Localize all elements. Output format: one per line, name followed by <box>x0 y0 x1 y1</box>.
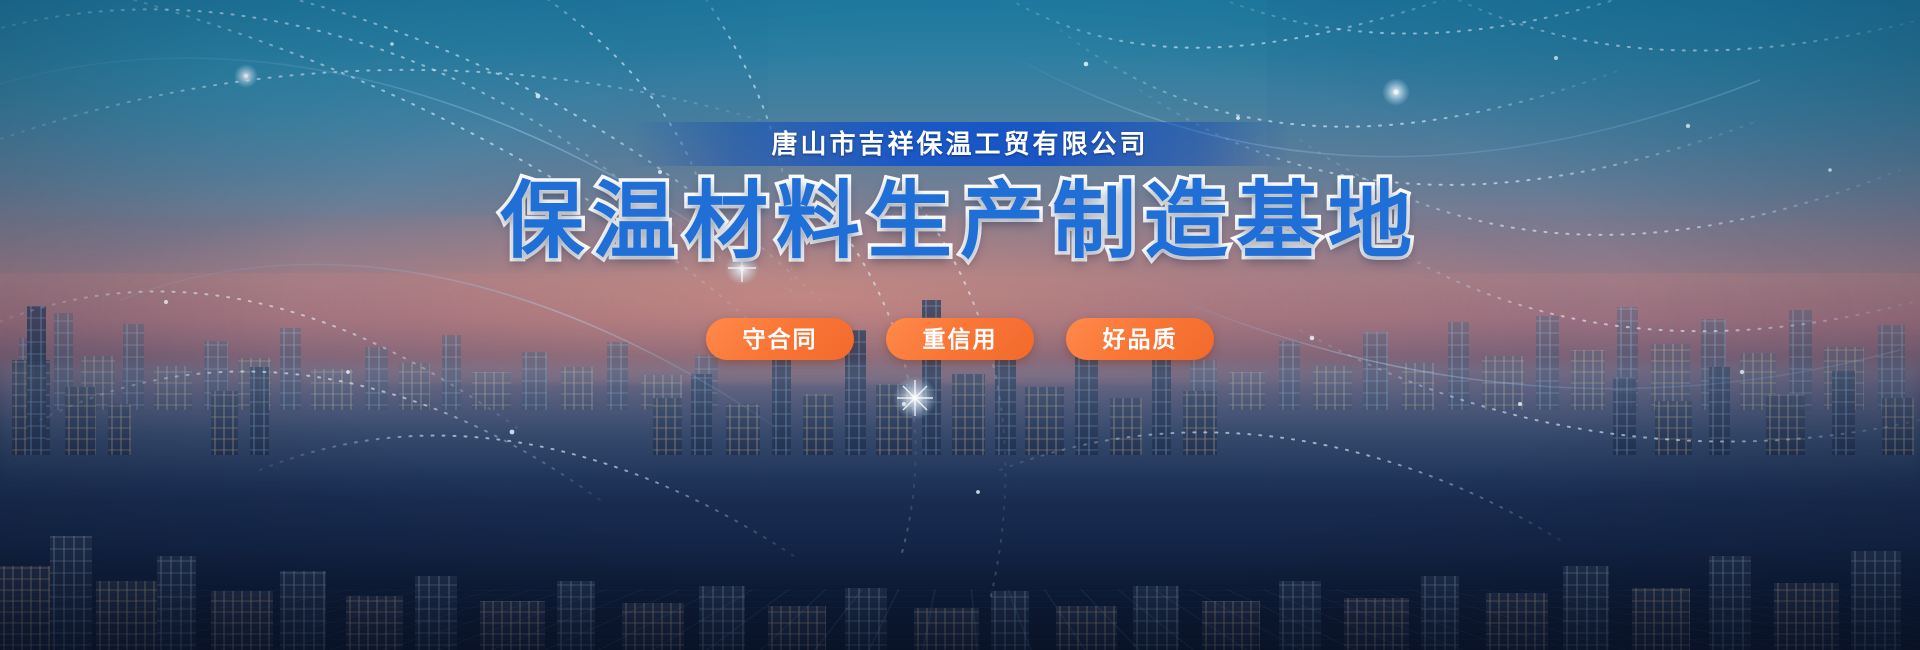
company-name-bar: 唐山市吉祥保温工贸有限公司 <box>630 122 1290 166</box>
badge-shou-he-tong[interactable]: 守合同 <box>706 318 854 360</box>
hero-banner: 唐山市吉祥保温工贸有限公司 保温材料生产制造基地 守合同 重信用 好品质 <box>0 0 1920 650</box>
badge-label: 重信用 <box>923 328 998 351</box>
badge-row: 守合同 重信用 好品质 <box>706 318 1214 360</box>
badge-label: 好品质 <box>1103 328 1178 351</box>
badge-zhong-xin-yong[interactable]: 重信用 <box>886 318 1034 360</box>
headline-title: 保温材料生产制造基地 <box>500 176 1420 267</box>
badge-hao-pin-zhi[interactable]: 好品质 <box>1066 318 1214 360</box>
company-name: 唐山市吉祥保温工贸有限公司 <box>771 131 1148 157</box>
badge-label: 守合同 <box>743 328 818 351</box>
